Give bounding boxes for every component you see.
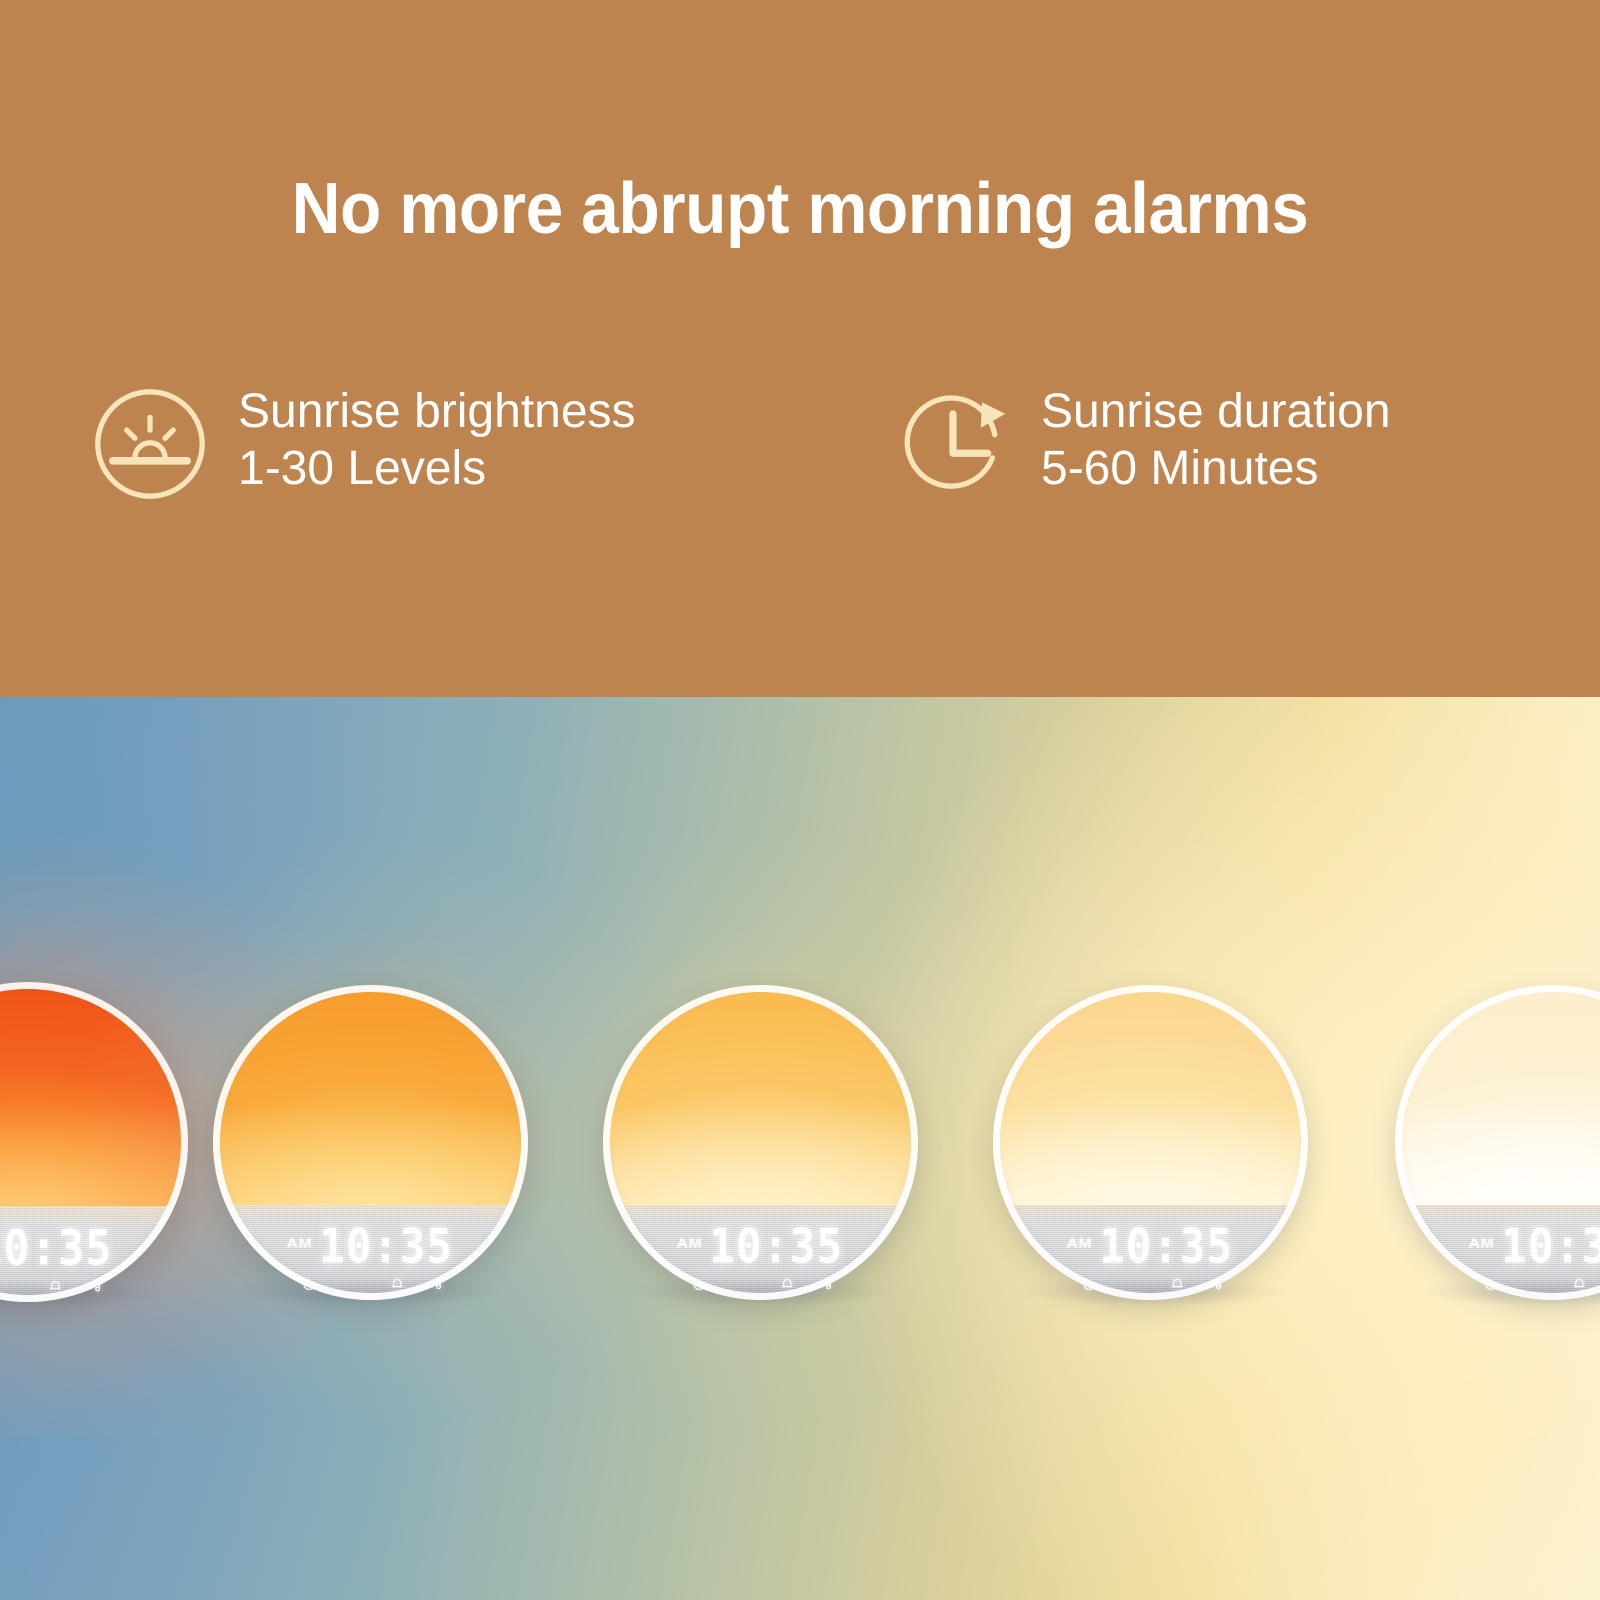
feature-line-1: Sunrise duration [1041,384,1391,441]
feature-sunrise-brightness: Sunrise brightness 1-30 Levels [92,382,636,522]
feature-line-2: 5-60 Minutes [1041,441,1391,498]
sunrise-lamp-5: AM 10:35 [1395,985,1600,1300]
lamp-body [0,982,188,1302]
sunrise-lamp-2: AM 10:35 [213,985,528,1300]
lamp-fabric-base [213,1205,528,1300]
lamp-light-dome [213,985,528,1206]
feature-text: Sunrise brightness 1-30 Levels [238,382,636,497]
lamp-light-dome [1395,985,1600,1206]
page-title: No more abrupt morning alarms [48,168,1552,250]
lamp-fabric-base [0,1206,188,1302]
sunrise-lamp-4: AM 10:35 [993,985,1308,1300]
product-photo-panel: AM 10:35 AM [0,697,1600,1600]
sunrise-lamp-1: AM 10:35 [0,982,188,1302]
lamp-light-dome [993,985,1308,1206]
feature-sunrise-duration: Sunrise duration 5-60 Minutes [895,382,1391,522]
lamp-light-dome [603,985,918,1206]
lamp-light-dome [0,982,188,1206]
clock-duration-icon [895,386,1011,502]
feature-line-1: Sunrise brightness [238,384,636,441]
lamp-body [213,985,528,1300]
feature-text: Sunrise duration 5-60 Minutes [1041,382,1391,497]
feature-list: Sunrise brightness 1-30 Levels Sunrise d… [0,382,1600,522]
sunrise-lamp-3: AM 10:35 [603,985,918,1300]
lamp-body [1395,985,1600,1300]
lamp-body [993,985,1308,1300]
feature-line-2: 1-30 Levels [238,441,636,498]
lamp-fabric-base [1395,1205,1600,1300]
product-feature-graphic: No more abrupt morning alarms Sunrise br… [0,0,1600,1600]
lamp-fabric-base [993,1205,1308,1300]
lamp-body [603,985,918,1300]
sunrise-icon [92,386,208,502]
headline-panel: No more abrupt morning alarms Sunrise br… [0,0,1600,697]
lamp-fabric-base [603,1205,918,1300]
